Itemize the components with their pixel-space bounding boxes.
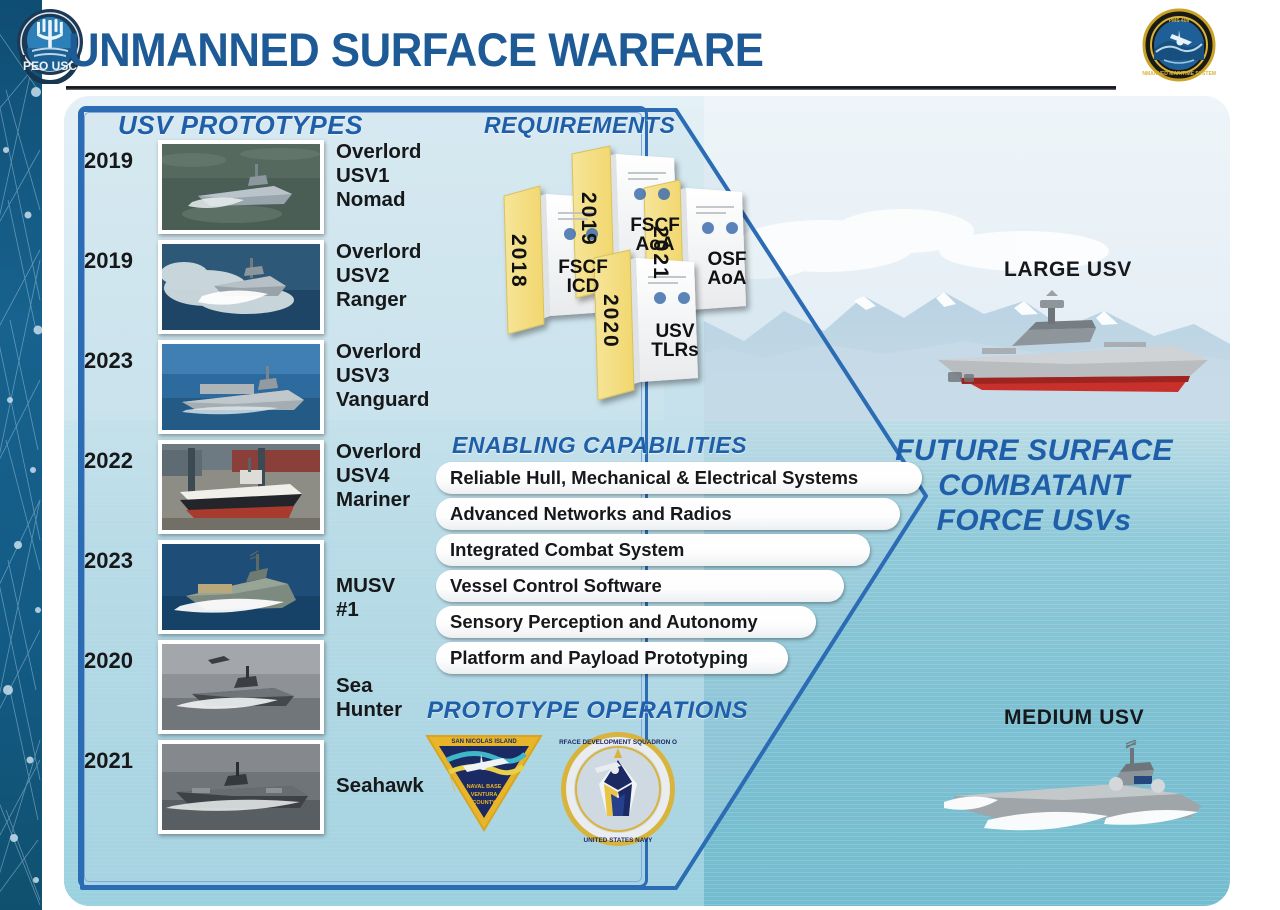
slide-root: PEO USC PMS 406 UNMANNED MARITIME SYSTEM… [0, 0, 1280, 910]
svg-text:COUNTY: COUNTY [472, 800, 496, 806]
prototype-row[interactable]: 2019 [80, 240, 500, 340]
prototype-year: 2023 [84, 548, 156, 574]
prototype-thumbnail[interactable] [158, 240, 324, 334]
large-usv-label: LARGE USV [1004, 258, 1132, 282]
capability-pill[interactable]: Reliable Hull, Mechanical & Electrical S… [436, 462, 922, 494]
folder-year: 2019 [576, 192, 600, 247]
prototype-year: 2019 [84, 248, 156, 274]
folder-year: 2020 [598, 294, 622, 349]
svg-text:SURFACE DEVELOPMENT SQUADRON O: SURFACE DEVELOPMENT SQUADRON ONE [559, 739, 677, 746]
prototype-name: Overlord USV2 Ranger [336, 240, 506, 312]
prototype-thumbnail[interactable] [158, 140, 324, 234]
prototype-thumbnail[interactable] [158, 540, 324, 634]
prototype-name: Overlord USV3 Vanguard [336, 340, 506, 412]
future-force-title: FUTURE SURFACE COMBATANT FORCE USVs [854, 434, 1214, 538]
surface-development-squadron-one-seal-icon: SURFACE DEVELOPMENT SQUADRON ONE UNITED … [559, 730, 677, 853]
capabilities-heading: ENABLING CAPABILITIES [452, 432, 747, 459]
folder-doc-label: OSF AoA [696, 250, 758, 288]
folder-doc-label: USV TLRs [644, 322, 706, 360]
capability-pill[interactable]: Advanced Networks and Radios [436, 498, 900, 530]
page-title: UNMANNED SURFACE WARFARE [68, 22, 764, 77]
svg-text:NAVAL BASE: NAVAL BASE [467, 784, 502, 790]
prototype-year: 2023 [84, 348, 156, 374]
network-pattern-strip [0, 0, 42, 910]
folder-doc-label: FSCF AoA [624, 216, 686, 254]
prototype-row[interactable]: 2019 [80, 140, 500, 240]
prototype-year: 2021 [84, 748, 156, 774]
title-divider [66, 86, 1116, 90]
prototype-thumbnail[interactable] [158, 440, 324, 534]
requirements-heading: REQUIREMENTS [484, 112, 675, 139]
large-usv-image [920, 288, 1220, 408]
operations-heading: PROTOTYPE OPERATIONS [427, 697, 748, 725]
pms-406-seal: PMS 406 UNMANNED MARITIME SYSTEMS [1142, 8, 1216, 82]
medium-usv-label: MEDIUM USV [1004, 706, 1144, 730]
prototype-year: 2022 [84, 448, 156, 474]
prototype-name: Overlord USV1 Nomad [336, 140, 506, 212]
prototype-row[interactable]: 2023 [80, 340, 500, 440]
svg-text:VENTURA: VENTURA [471, 792, 498, 798]
prototype-thumbnail[interactable] [158, 640, 324, 734]
folder-year: 2018 [506, 234, 530, 289]
content-board: USV PROTOTYPES 2019 [64, 96, 1230, 906]
medium-usv-image [944, 740, 1230, 850]
capability-pill[interactable]: Integrated Combat System [436, 534, 870, 566]
prototype-thumbnail[interactable] [158, 740, 324, 834]
svg-text:PMS 406: PMS 406 [1169, 18, 1190, 24]
requirements-folders: 2018 2019 2020 2021 FSCF ICD FSCF AoA US… [484, 138, 754, 438]
capability-pill[interactable]: Vessel Control Software [436, 570, 844, 602]
capability-pill[interactable]: Platform and Payload Prototyping [436, 642, 788, 674]
prototypes-heading: USV PROTOTYPES [118, 110, 363, 141]
prototype-year: 2020 [84, 648, 156, 674]
svg-text:UNITED STATES NAVY: UNITED STATES NAVY [584, 837, 654, 844]
svg-text:SAN NICOLAS ISLAND: SAN NICOLAS ISLAND [451, 739, 517, 745]
folder-doc-label: FSCF ICD [552, 258, 614, 296]
prototype-year: 2019 [84, 148, 156, 174]
capability-pill[interactable]: Sensory Perception and Autonomy [436, 606, 816, 638]
prototype-thumbnail[interactable] [158, 340, 324, 434]
svg-text:UNMANNED MARITIME SYSTEMS: UNMANNED MARITIME SYSTEMS [1142, 71, 1216, 77]
naval-base-ventura-county-patch-icon: SAN NICOLAS ISLAND NAVAL BASE VENTURA CO… [419, 726, 549, 843]
